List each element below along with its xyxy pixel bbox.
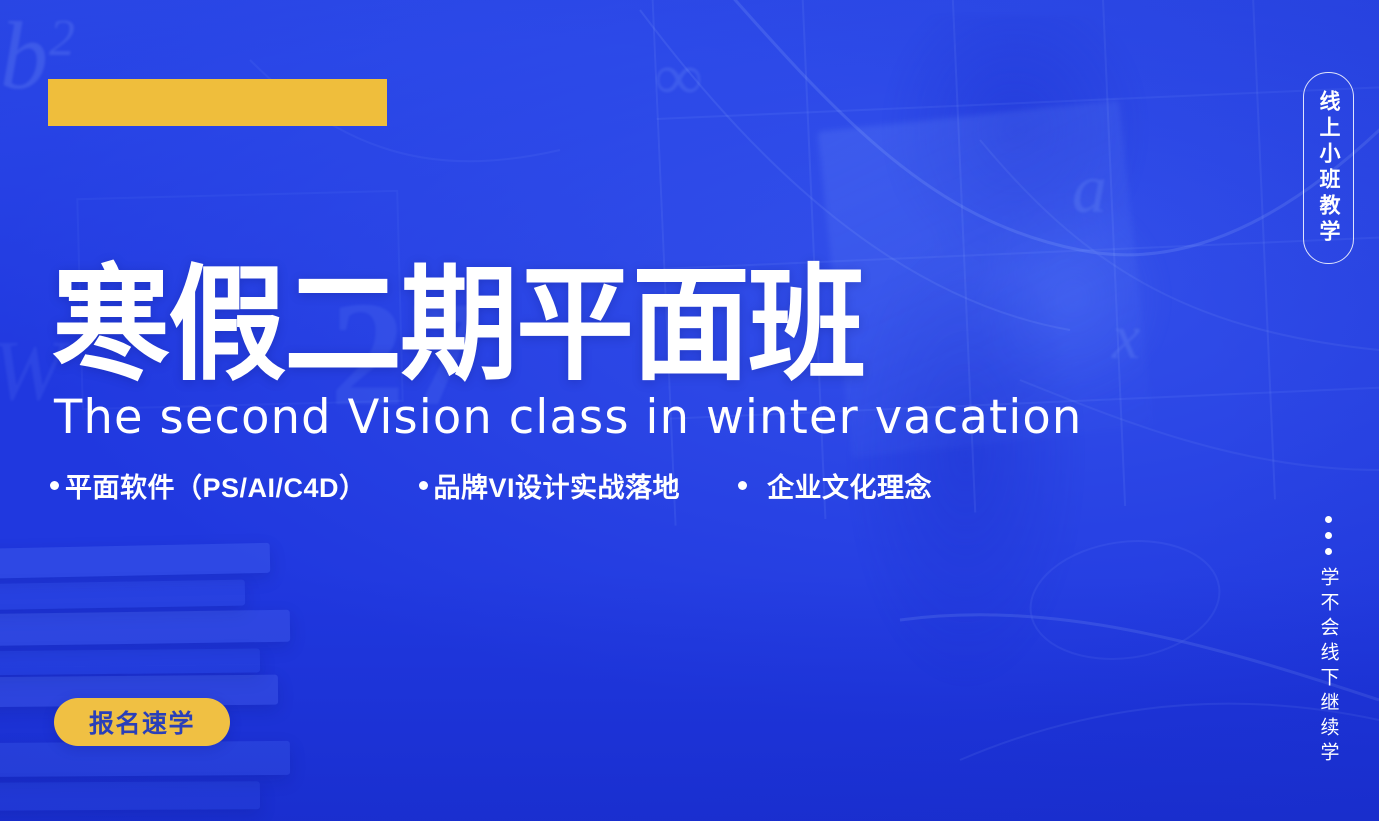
online-class-badge-label: 线上小班教学 xyxy=(1318,90,1339,246)
feature-item-label: 企业文化理念 xyxy=(767,466,932,505)
feature-item-culture: 企业文化理念 xyxy=(738,466,932,505)
guarantee-slogan: 学不会线下继续学 xyxy=(1310,516,1346,767)
bullet-dot-icon xyxy=(738,481,747,490)
accent-bar xyxy=(48,79,387,126)
banner-content: 寒假二期平面班 The second Vision class in winte… xyxy=(0,0,1379,821)
online-class-badge: 线上小班教学 xyxy=(1303,72,1354,264)
bullet-dot-icon xyxy=(419,481,428,490)
page-subtitle: The second Vision class in winter vacati… xyxy=(54,394,1082,441)
three-dots-icon xyxy=(1325,516,1332,555)
feature-item-label: 平面软件（PS/AI/C4D） xyxy=(65,466,367,505)
feature-list: 平面软件（PS/AI/C4D） 品牌VI设计实战落地 企业文化理念 xyxy=(50,466,932,505)
enroll-button[interactable]: 报名速学 xyxy=(54,698,230,746)
feature-item-software: 平面软件（PS/AI/C4D） xyxy=(50,466,367,505)
promo-banner: 27 W a ∞ x b2 寒假二期平面班 The second Vision … xyxy=(0,0,1379,821)
guarantee-slogan-label: 学不会线下继续学 xyxy=(1319,567,1338,767)
feature-item-brand-vi: 品牌VI设计实战落地 xyxy=(419,466,681,505)
page-title: 寒假二期平面班 xyxy=(52,262,1098,387)
bullet-dot-icon xyxy=(50,481,59,490)
feature-item-label: 品牌VI设计实战落地 xyxy=(434,466,681,505)
title-block: 寒假二期平面班 The second Vision class in winte… xyxy=(52,262,1098,441)
